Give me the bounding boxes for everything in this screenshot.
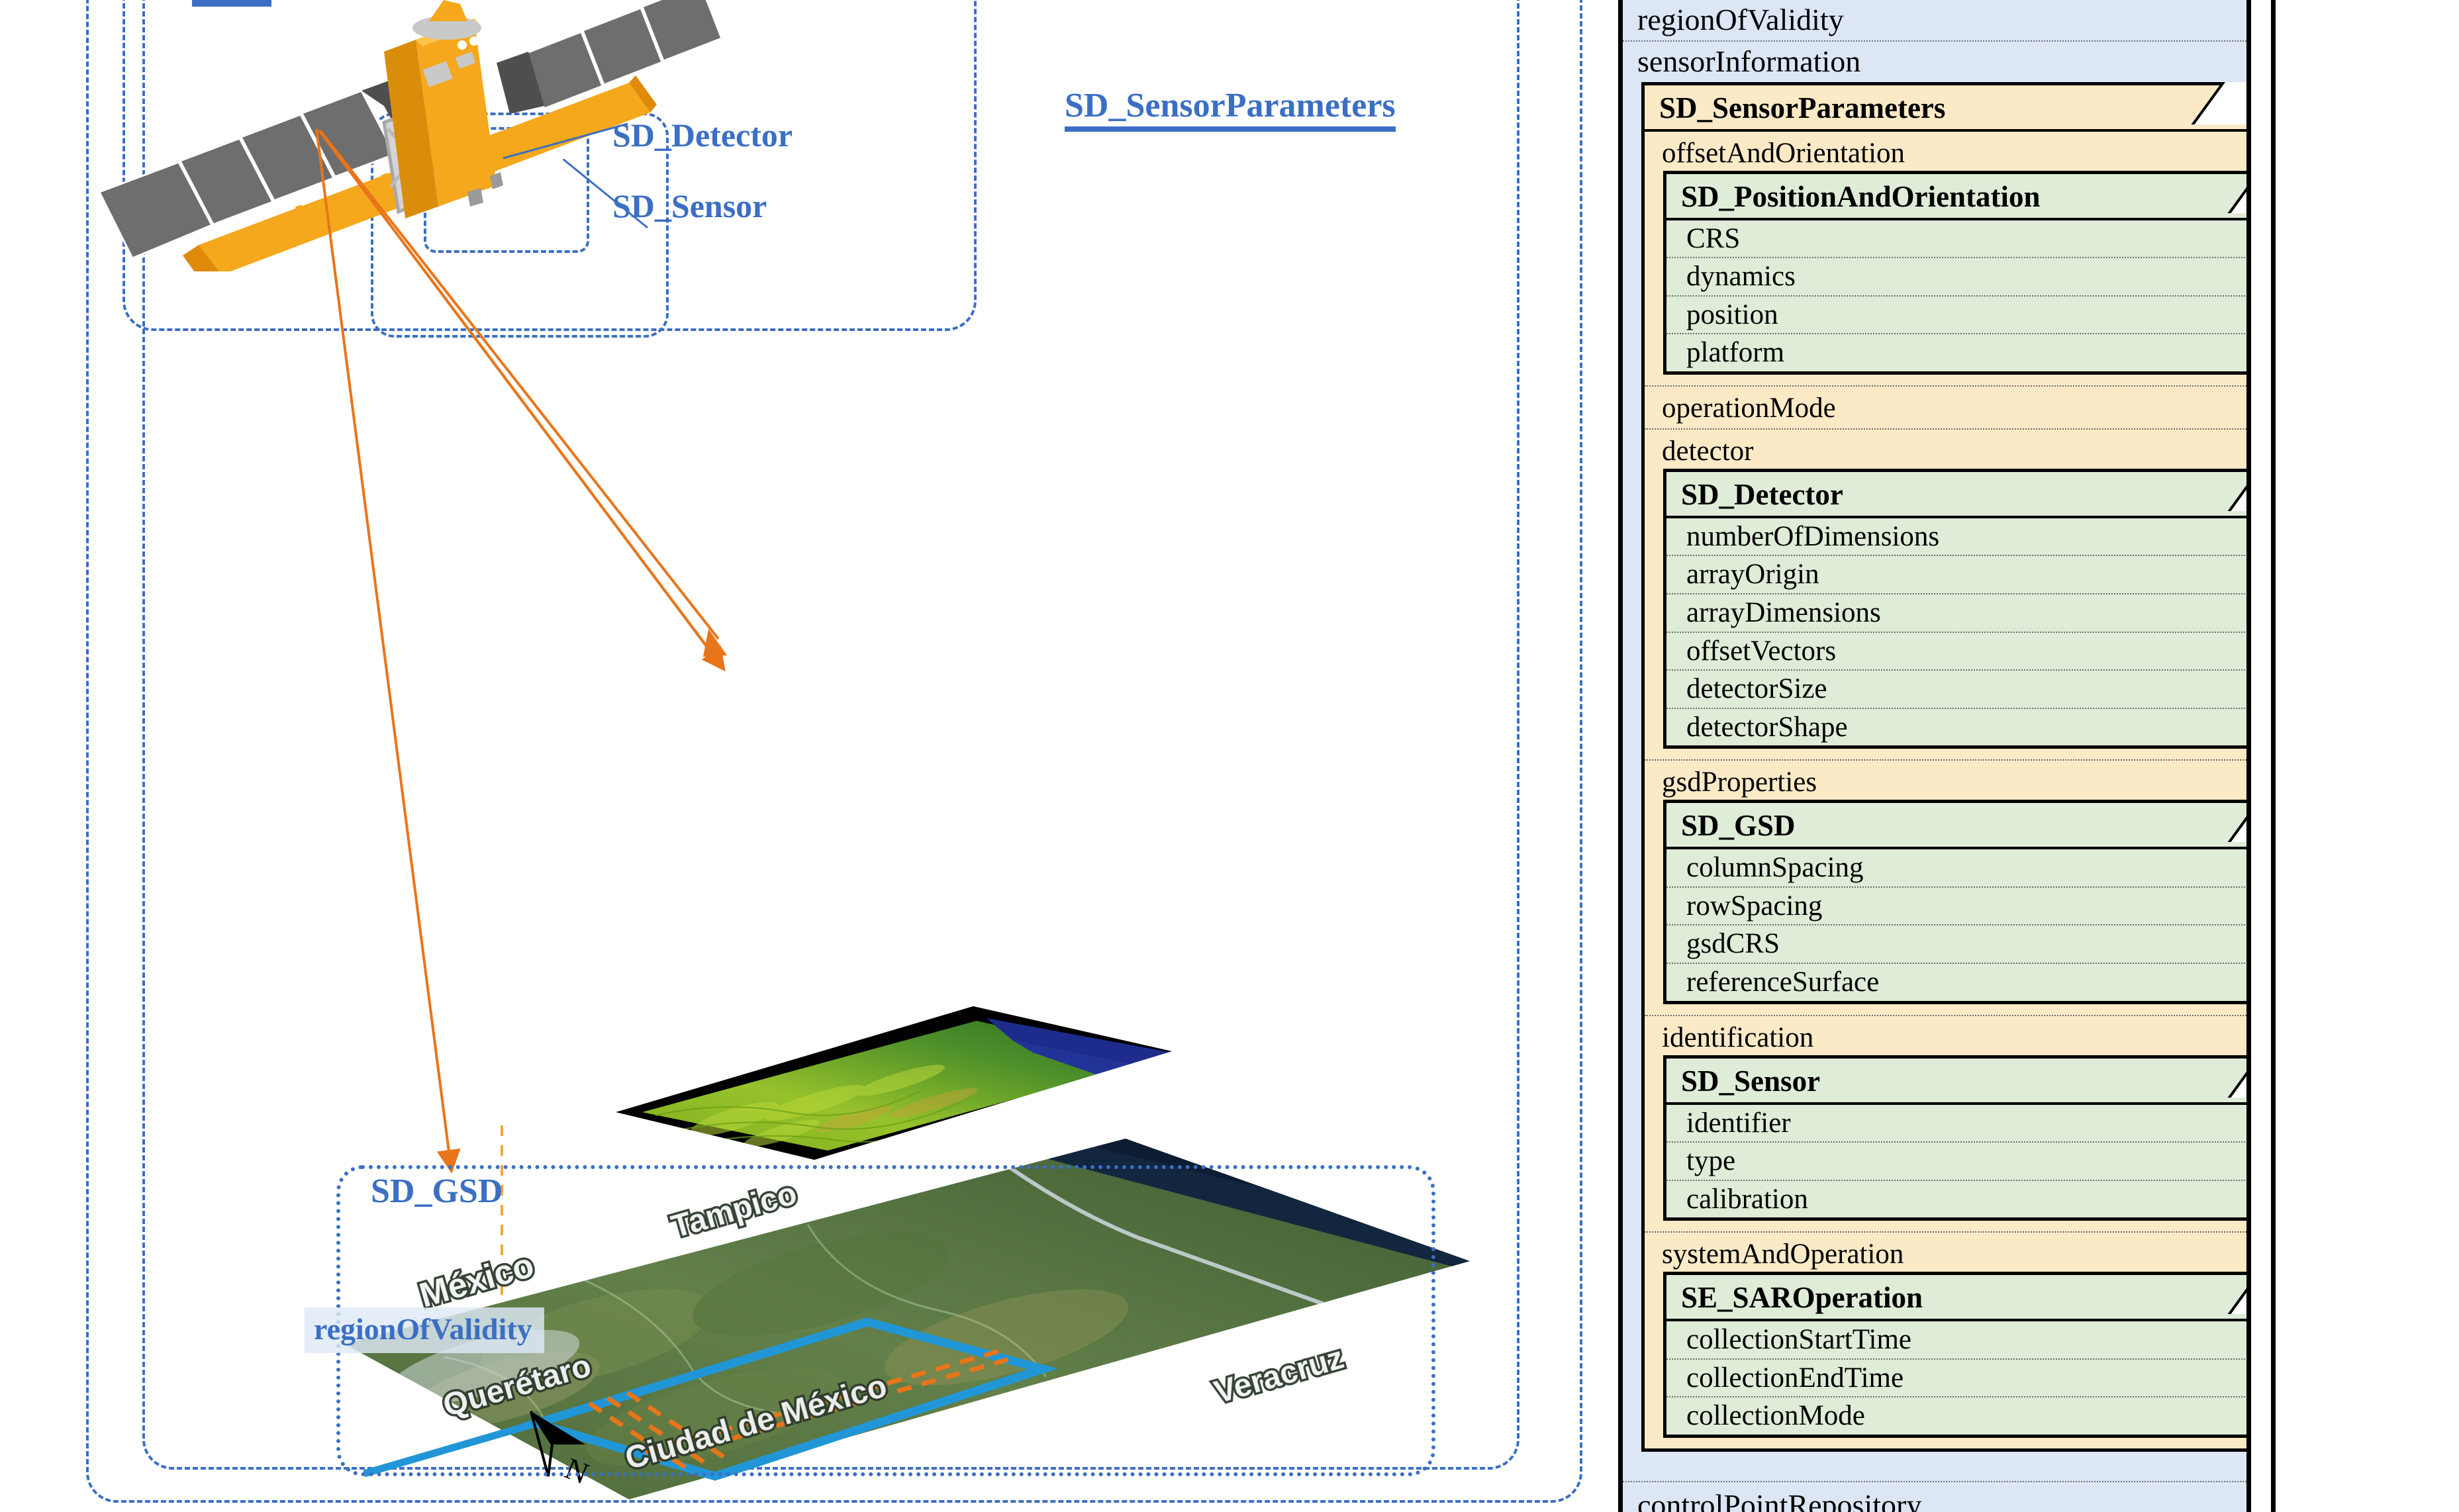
- uml-attribute: calibration: [1666, 1181, 2251, 1218]
- sensor-leader-line: [563, 159, 649, 232]
- uml-class-title: SD_Detector: [1666, 472, 2251, 518]
- uml-class-sd_sensorparameters: SD_SensorParametersoffsetAndOrientationS…: [1641, 82, 2251, 1452]
- uml-class-se_saroperation: SE_SAROperationcollectionStartTimecollec…: [1663, 1272, 2251, 1438]
- uml-attribute-list: CRSdynamicspositionplatform: [1666, 220, 2251, 371]
- uml-attribute: referenceSurface: [1666, 964, 2251, 1001]
- uml-class-title: SE_SAROperation: [1666, 1275, 2251, 1321]
- label-region-of-validity-text: regionOfValidity: [314, 1312, 532, 1346]
- uml-model-panel: regionOfValiditysensorInformationSD_Sens…: [1618, 0, 2251, 1512]
- uml-attribute-list: columnSpacingrowSpacinggsdCRSreferenceSu…: [1666, 849, 2251, 1000]
- uml-class-title: SD_Sensor: [1666, 1059, 2251, 1105]
- label-sd-sensorparameters: SD_SensorParameters: [1065, 86, 1396, 132]
- uml-attribute: columnSpacing: [1666, 849, 2251, 888]
- uml-attribute-list: numberOfDimensionsarrayOriginarrayDimens…: [1666, 518, 2251, 745]
- uml-section-label: controlPointRepository: [1623, 1482, 2246, 1512]
- uml-attribute: platform: [1666, 334, 2251, 371]
- uml-section-label: identification: [1645, 1016, 2251, 1055]
- label-sd-gsd-text: SD_GSD: [371, 1172, 503, 1210]
- uml-attribute: arrayOrigin: [1666, 556, 2251, 594]
- uml-attribute-list: collectionStartTimecollectionEndTimecoll…: [1666, 1321, 2251, 1435]
- left-illustration-panel: México Tampico Querétaro Ciudad de Méxic…: [0, 0, 1589, 1512]
- uml-attribute-list: identifiertypecalibration: [1666, 1105, 2251, 1218]
- uml-section: gsdPropertiesSD_GSDcolumnSpacingrowSpaci…: [1645, 759, 2251, 1014]
- uml-section: offsetAndOrientationSD_PositionAndOrient…: [1645, 132, 2251, 385]
- uml-attribute: CRS: [1666, 220, 2251, 259]
- uml-class-sd_gsd: SD_GSDcolumnSpacingrowSpacinggsdCRSrefer…: [1663, 800, 2251, 1004]
- uml-attribute: detectorShape: [1666, 709, 2251, 746]
- uml-root-field: regionOfValidity: [1623, 0, 2246, 42]
- uml-section-list: offsetAndOrientationSD_PositionAndOrient…: [1645, 132, 2251, 1449]
- uml-attribute: type: [1666, 1143, 2251, 1181]
- uml-attribute: rowSpacing: [1666, 888, 2251, 926]
- uml-section: systemAndOperationSE_SAROperationcollect…: [1645, 1231, 2251, 1448]
- uml-section-label: systemAndOperation: [1645, 1233, 2251, 1272]
- uml-section-label: detector: [1645, 430, 2251, 469]
- uml-class-title: SD_PositionAndOrientation: [1666, 174, 2251, 220]
- uml-section: detectorSD_DetectornumberOfDimensionsarr…: [1645, 428, 2251, 759]
- detector-leader-line: [503, 116, 629, 162]
- panel-spacer: [1623, 1452, 2246, 1481]
- label-sd-detector: SD_Detector: [612, 116, 793, 154]
- uml-section-label: offsetAndOrientation: [1645, 132, 2251, 171]
- uml-attribute: identifier: [1666, 1105, 2251, 1143]
- uml-root-container: regionOfValiditysensorInformationSD_Sens…: [1623, 0, 2246, 1512]
- label-sd-detector-text: SD_Detector: [612, 117, 793, 154]
- uml-class-sd_positionandorientation: SD_PositionAndOrientationCRSdynamicsposi…: [1663, 171, 2251, 375]
- label-sd-sensorparameters-text: SD_SensorParameters: [1065, 87, 1396, 124]
- uml-section-label: operationMode: [1645, 387, 2251, 426]
- uml-section-label: gsdProperties: [1645, 761, 2251, 800]
- uml-attribute: collectionEndTime: [1666, 1360, 2251, 1398]
- uml-attribute: collectionMode: [1666, 1397, 2251, 1435]
- uml-attribute: collectionStartTime: [1666, 1321, 2251, 1360]
- uml-attribute: arrayDimensions: [1666, 594, 2251, 633]
- uml-section: controlPointRepositorySD_GCPRepositoryac…: [1623, 1481, 2246, 1512]
- uml-attribute: position: [1666, 297, 2251, 335]
- label-region-of-validity: regionOfValidity: [305, 1307, 544, 1353]
- uml-attribute: detectorSize: [1666, 671, 2251, 709]
- uml-class-sd_sensor: SD_Sensoridentifiertypecalibration: [1663, 1055, 2251, 1221]
- uml-class-title: SD_GSD: [1666, 803, 2251, 849]
- uml-attribute: offsetVectors: [1666, 633, 2251, 671]
- panel-right-rule: [2271, 0, 2276, 1512]
- uml-section: identificationSD_Sensoridentifiertypecal…: [1645, 1015, 2251, 1232]
- label-sd-gsd: SD_GSD: [371, 1172, 503, 1211]
- uml-attribute: gsdCRS: [1666, 925, 2251, 964]
- uml-attribute: dynamics: [1666, 258, 2251, 297]
- uml-attribute: numberOfDimensions: [1666, 518, 2251, 557]
- uml-class-sd_detector: SD_DetectornumberOfDimensionsarrayOrigin…: [1663, 469, 2251, 749]
- uml-class-title: SD_SensorParameters: [1645, 85, 2251, 132]
- uml-section: operationMode: [1645, 385, 2251, 428]
- uml-root-field: sensorInformation: [1623, 42, 2246, 82]
